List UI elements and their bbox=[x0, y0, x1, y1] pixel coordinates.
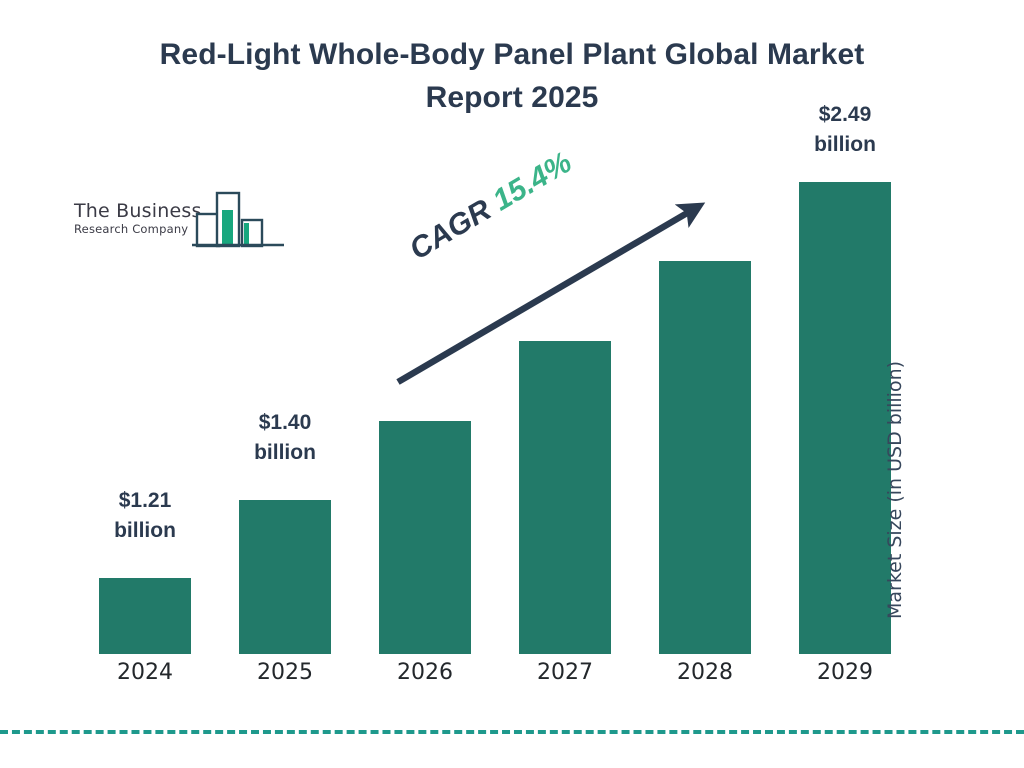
value-label-2025-amount: $1.40 bbox=[225, 408, 345, 438]
value-label-2024-unit: billion bbox=[85, 516, 205, 546]
y-axis-title: Market Size (in USD billion) bbox=[884, 330, 906, 650]
cagr-label: CAGR bbox=[404, 193, 497, 266]
bar-2025[interactable] bbox=[239, 500, 331, 654]
footer-divider bbox=[0, 730, 1024, 734]
bar-2024[interactable] bbox=[99, 578, 191, 654]
x-tick-2026: 2026 bbox=[365, 660, 485, 685]
value-label-2024-amount: $1.21 bbox=[85, 486, 205, 516]
value-label-2025: $1.40 billion bbox=[225, 408, 345, 468]
value-label-2024: $1.21 billion bbox=[85, 486, 205, 546]
x-tick-2024: 2024 bbox=[85, 660, 205, 685]
bar-chart-plot-area: $1.21 billion $1.40 billion $2.49 billio… bbox=[0, 0, 1024, 768]
value-label-2029-amount: $2.49 bbox=[785, 100, 905, 130]
bar-2026[interactable] bbox=[379, 421, 471, 654]
cagr-value: 15.4% bbox=[487, 146, 577, 218]
x-tick-2029: 2029 bbox=[785, 660, 905, 685]
bar-2027[interactable] bbox=[519, 341, 611, 654]
x-tick-2025: 2025 bbox=[225, 660, 345, 685]
bar-2029[interactable] bbox=[799, 182, 891, 654]
x-tick-2028: 2028 bbox=[645, 660, 765, 685]
value-label-2025-unit: billion bbox=[225, 438, 345, 468]
cagr-annotation: CAGR 15.4% bbox=[404, 146, 578, 268]
chart-page: Red-Light Whole-Body Panel Plant Global … bbox=[0, 0, 1024, 768]
value-label-2029-unit: billion bbox=[785, 130, 905, 160]
value-label-2029: $2.49 billion bbox=[785, 100, 905, 160]
bar-2028[interactable] bbox=[659, 261, 751, 654]
x-tick-2027: 2027 bbox=[505, 660, 625, 685]
